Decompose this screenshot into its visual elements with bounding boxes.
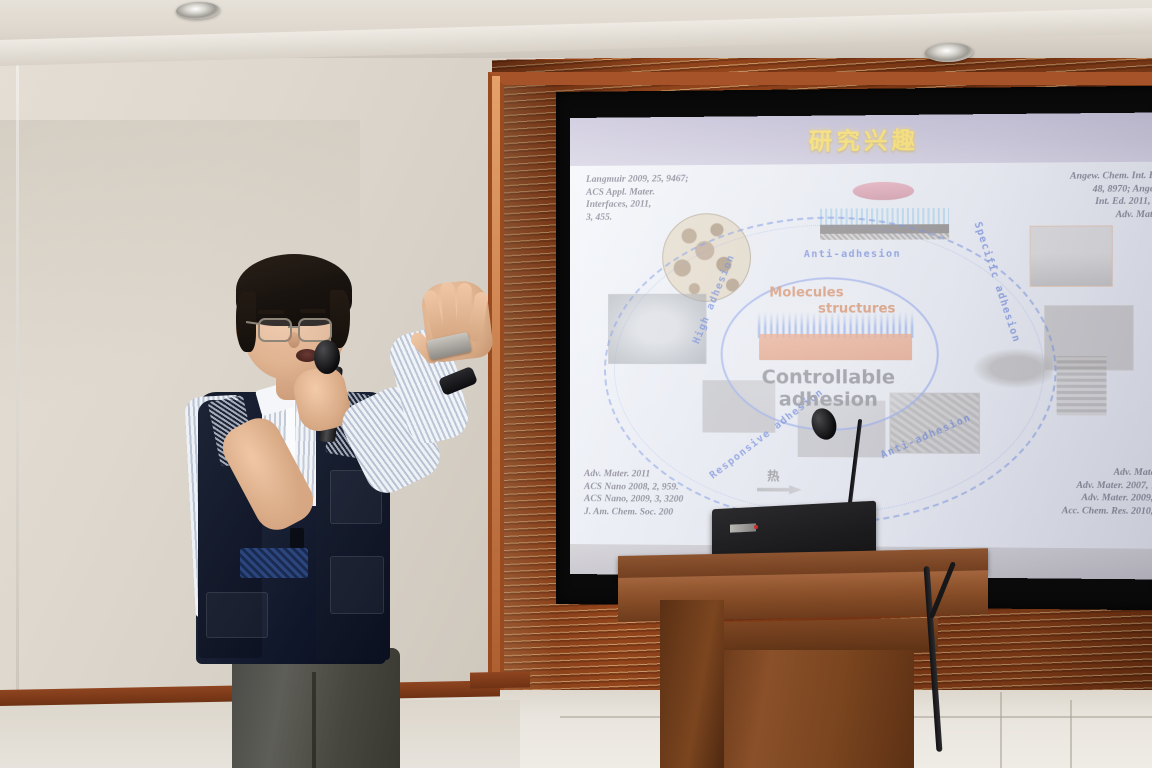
- outer-dotted-ring: [614, 224, 1044, 516]
- handheld-microphone-head: [314, 340, 340, 374]
- eyeglasses-lens-left: [258, 318, 292, 342]
- speaker-trousers: [232, 648, 400, 768]
- floor-tile-line: [1000, 692, 1002, 768]
- droplet-array-micrograph: 50 μm: [1044, 305, 1134, 370]
- eyebrow: [300, 309, 326, 313]
- citation-top-right: Angew. Chem. Int. Ed. 48, 8970; Angew. I…: [1070, 170, 1152, 234]
- structures-label: structures: [818, 301, 895, 316]
- ring-label-anti-adhesion-top: Anti-adhesion: [804, 249, 901, 260]
- heat-character: 热: [767, 467, 779, 484]
- eyebrow: [258, 310, 284, 314]
- base-layer: [820, 233, 949, 240]
- baseboard-right: [470, 671, 530, 688]
- slide-title: 研究兴趣: [570, 119, 1152, 158]
- wall-corner-edge: [16, 26, 19, 726]
- slide-title-band: [570, 112, 1152, 166]
- podium-side-leg: [660, 600, 724, 768]
- droplet-shape: [853, 182, 914, 201]
- speaker-nose: [288, 332, 300, 348]
- ring-label-specific-adhesion: Specific adhesion: [971, 221, 1022, 345]
- arrow-icon: [757, 485, 802, 494]
- laptop-brand-logo: [730, 523, 756, 532]
- fish-illustration: [972, 348, 1053, 389]
- ring-label-high-adhesion: High adhesion: [691, 253, 737, 346]
- sem-micrograph-fibers: [608, 294, 707, 364]
- trouser-seam: [312, 672, 316, 768]
- citation-bottom-left: Adv. Mater. 2011 ACS Nano 2008, 2, 959. …: [584, 468, 683, 519]
- lecture-photo-scene: 研究兴趣 Langmuir 2009, 25, 9467; ACS Appl. …: [0, 0, 1152, 768]
- micrograph-thumbnail: [798, 401, 886, 458]
- substrate-block: [759, 334, 912, 360]
- porous-film-micrograph: [662, 213, 751, 302]
- sem-micrograph-texture: [890, 393, 980, 454]
- ring-label-responsive-adhesion: Responsive adhesion: [708, 387, 826, 482]
- frame-highlight: [492, 76, 500, 736]
- controllable-adhesion-headline: Controllable adhesion: [721, 366, 937, 411]
- speaker-hair-side: [330, 290, 350, 348]
- vest-blue-patterned-pocket: [240, 548, 308, 578]
- floor-tile-line: [1070, 700, 1072, 768]
- vest-buckle: [290, 528, 304, 548]
- surface-profile-micrograph: [1030, 225, 1113, 287]
- micrograph-thumbnail: [702, 380, 775, 433]
- outer-dashed-ring: [604, 215, 1057, 525]
- patterned-surface-micrograph: [1057, 356, 1107, 415]
- ring-label-anti-adhesion-bottom: Anti-adhesion: [879, 412, 973, 461]
- laptop-logo-dot-icon: [754, 525, 758, 529]
- vest-pocket: [330, 556, 384, 614]
- citation-top-left: Langmuir 2009, 25, 9467; ACS Appl. Mater…: [586, 173, 689, 224]
- inner-ellipse: [721, 277, 939, 431]
- podium-body: [718, 650, 914, 768]
- molecules-label: Molecules: [769, 285, 843, 300]
- vest-pocket: [206, 592, 268, 638]
- slide-body: Langmuir 2009, 25, 9467; ACS Appl. Mater…: [570, 162, 1152, 549]
- citation-bottom-right: Adv. Mater. Adv. Mater. 2007, 19 Adv. Ma…: [1062, 466, 1152, 518]
- substrate-layer: [820, 224, 949, 234]
- water-layer: [820, 208, 949, 225]
- eyeglasses-lens-right: [298, 318, 332, 342]
- eyeglasses-bridge: [288, 326, 300, 328]
- anti-adhesion-schematic: [820, 181, 949, 240]
- molecular-brush-layer: [757, 312, 916, 338]
